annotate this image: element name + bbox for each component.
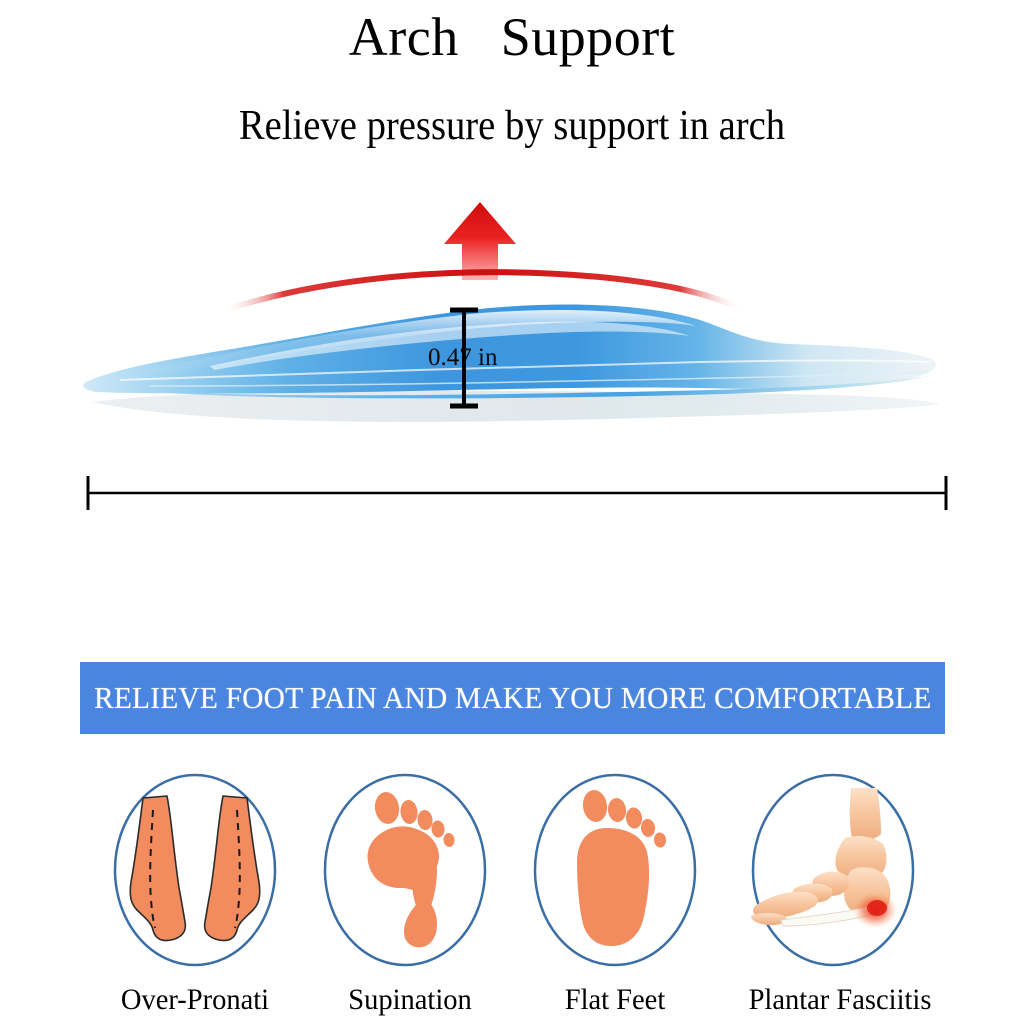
insole-diagram xyxy=(0,180,1024,540)
gel-insole-body xyxy=(83,305,935,399)
condition-item-flat-feet xyxy=(515,770,715,970)
condition-label-flat-feet: Flat Feet xyxy=(511,980,720,1020)
supination-footprint-icon xyxy=(305,770,505,970)
plantar-fasciitis-foot-bones-icon xyxy=(733,770,933,970)
height-dimension-label: 0.47 in xyxy=(428,345,497,371)
condition-icon-row xyxy=(0,770,1024,970)
up-arrow-icon xyxy=(444,202,516,280)
product-illustration: 0.47 in 3.92in xyxy=(0,180,1024,540)
flat-feet-footprint-icon xyxy=(515,770,715,970)
width-dimension-line xyxy=(88,476,946,510)
promo-banner-text: RELIEVE FOOT PAIN AND MAKE YOU MORE COMF… xyxy=(94,681,931,715)
page-subtitle: Relieve pressure by support in arch xyxy=(41,100,983,152)
condition-label-supination: Supination xyxy=(306,980,515,1020)
condition-item-over-pronation xyxy=(95,770,295,970)
condition-item-supination xyxy=(305,770,505,970)
over-pronation-legs-icon xyxy=(95,770,295,970)
condition-item-plantar-fasciitis xyxy=(733,770,933,970)
page-title: Arch Support xyxy=(0,6,1024,68)
promo-banner: RELIEVE FOOT PAIN AND MAKE YOU MORE COMF… xyxy=(80,662,945,734)
condition-label-plantar-fasciitis: Plantar Fasciitis xyxy=(712,980,969,1020)
condition-caption-row: Over-Pronati Supination Flat Feet Planta… xyxy=(0,980,1024,1024)
condition-label-over-pronation: Over-Pronati xyxy=(76,980,314,1020)
